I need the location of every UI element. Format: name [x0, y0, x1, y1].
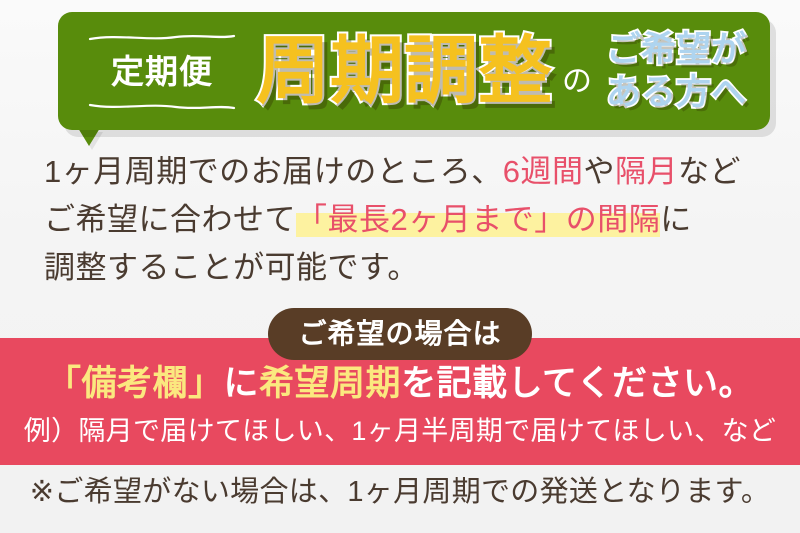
body-line-2-part-2: に — [660, 202, 692, 237]
body-line-3-part-1: 調整することが可能です。 — [44, 250, 419, 285]
body-paragraph: 1ヶ月周期でのお届けのところ、6週間や隔月など ご希望に合わせて「最長2ヶ月まで… — [44, 148, 774, 292]
speech-bubble-tail — [78, 128, 100, 146]
body-line-1: 1ヶ月周期でのお届けのところ、6週間や隔月など — [44, 148, 774, 196]
subscription-badge: 定期便 — [86, 26, 238, 116]
instruction-main-part-4: を記載してください。 — [401, 364, 754, 403]
instruction-main-part-2: に — [224, 364, 260, 403]
body-line-1-highlight-2: 隔月 — [615, 154, 678, 189]
header-wish-text: ご希望が ある方へ — [606, 29, 746, 114]
body-line-1-part-3: など — [678, 154, 741, 189]
green-header-box: 定期便 周期調整 の ご希望が ある方へ — [58, 12, 770, 130]
body-line-1-part-1: 1ヶ月周期でのお届けのところ、 — [44, 154, 503, 189]
instruction-cycle-term: 希望周期 — [259, 364, 401, 403]
instruction-field-name: 「備考欄」 — [46, 364, 224, 403]
wave-line-bottom-icon — [88, 102, 236, 110]
header-wish-line-2: ある方へ — [606, 72, 746, 113]
footer-note: ※ご希望がない場合は、1ヶ月周期での発送となります。 — [0, 478, 800, 507]
instruction-example-text: 例）隔月で届けてほしい、1ヶ月半周期で届けてほしい、など — [0, 418, 800, 445]
promo-banner: 定期便 周期調整 の ご希望が ある方へ — [0, 0, 800, 533]
body-line-2-highlight: 「最長2ヶ月まで」の間隔 — [296, 202, 660, 237]
body-line-1-highlight-1: 6週間 — [503, 154, 584, 189]
condition-badge-label: ご希望の場合は — [298, 320, 501, 348]
header-title: 周期調整 — [256, 34, 552, 108]
instruction-main-text: 「備考欄」に希望周期を記載してください。 — [0, 366, 800, 401]
body-line-2: ご希望に合わせて「最長2ヶ月まで」の間隔に — [44, 196, 774, 244]
condition-badge: ご希望の場合は — [268, 308, 532, 360]
header-wish-line-1: ご希望が — [606, 29, 746, 70]
header-particle: の — [562, 67, 592, 97]
body-line-2-part-1: ご希望に合わせて — [44, 202, 296, 237]
body-line-3: 調整することが可能です。 — [44, 244, 774, 292]
body-line-1-part-2: や — [584, 154, 616, 189]
subscription-badge-label: 定期便 — [111, 55, 213, 88]
banner-header: 定期便 周期調整 の ご希望が ある方へ — [0, 0, 800, 150]
wave-line-top-icon — [88, 34, 236, 42]
